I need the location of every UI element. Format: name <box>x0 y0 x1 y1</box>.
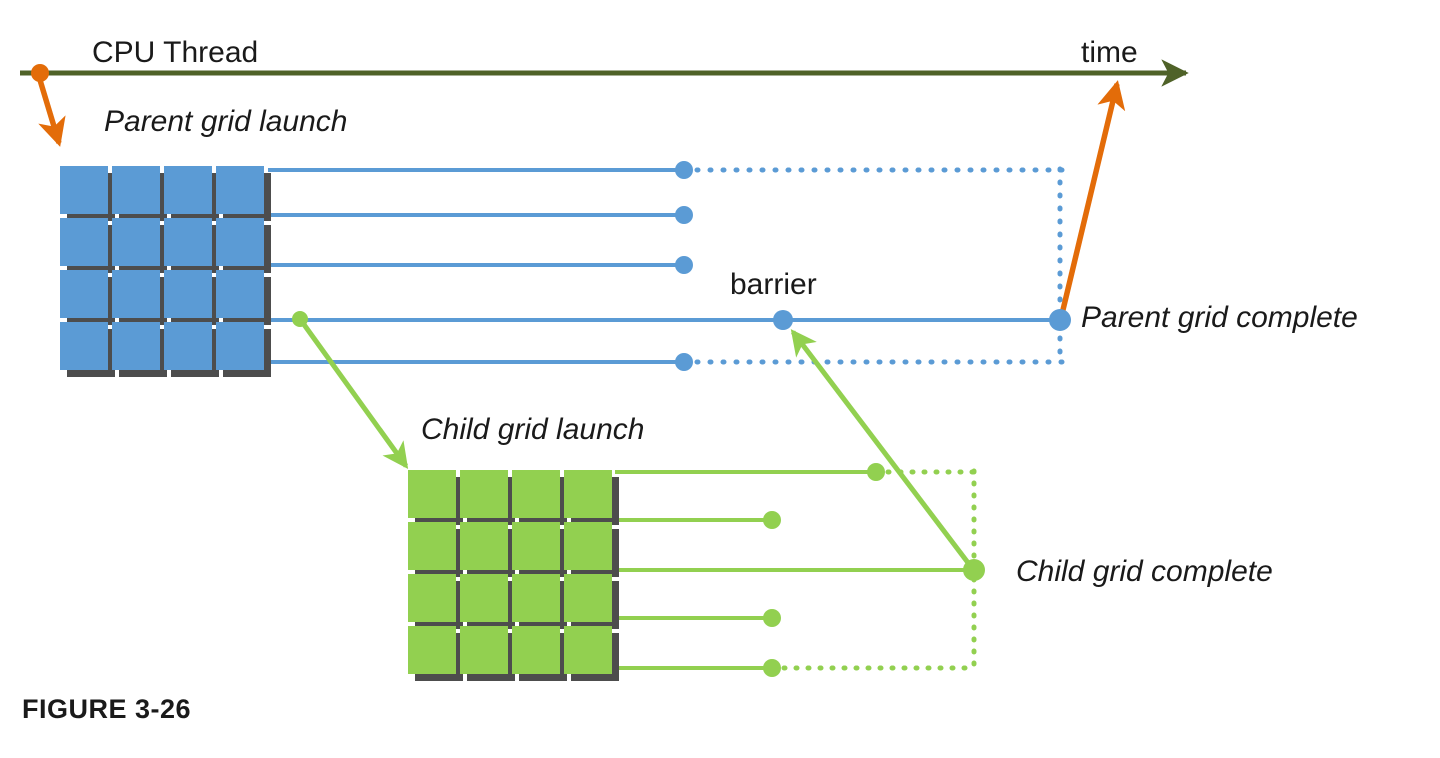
child-grid-launch-label: Child grid launch <box>421 413 644 447</box>
parent-barrier-dot <box>773 310 793 330</box>
child-grid-blocks <box>408 470 619 681</box>
child-block <box>460 522 508 570</box>
parent-grid-launch-label: Parent grid launch <box>104 105 348 139</box>
parent-block <box>216 218 264 266</box>
child-thread-lines-group <box>615 463 985 677</box>
child-block <box>512 574 560 622</box>
parent-block <box>60 270 108 318</box>
child-grid-launch-arrow <box>300 319 406 466</box>
parent-thread-end-dot-5 <box>675 353 693 371</box>
child-thread-end-dot-5 <box>763 659 781 677</box>
parent-thread-end-dot-1 <box>675 161 693 179</box>
child-block <box>408 626 456 674</box>
child-grid-launch-origin-dot <box>292 311 308 327</box>
parent-block <box>164 218 212 266</box>
child-block <box>564 574 612 622</box>
parent-block <box>60 218 108 266</box>
child-grid-complete-arrow <box>793 332 972 568</box>
child-block <box>564 626 612 674</box>
parent-block <box>112 218 160 266</box>
figure-caption: FIGURE 3-26 <box>22 694 191 725</box>
child-block <box>512 470 560 518</box>
parent-block <box>112 270 160 318</box>
time-axis-label: time <box>1081 36 1138 70</box>
child-block <box>460 574 508 622</box>
child-block <box>460 626 508 674</box>
child-block <box>512 522 560 570</box>
child-thread-end-dot-4 <box>763 609 781 627</box>
child-thread-end-dot-2 <box>763 511 781 529</box>
child-block <box>408 470 456 518</box>
parent-block <box>216 270 264 318</box>
child-block <box>564 522 612 570</box>
child-thread-end-dot-1 <box>867 463 885 481</box>
cpu-thread-label: CPU Thread <box>92 36 258 70</box>
cpu-timeline-start-dot <box>31 64 49 82</box>
parent-grid-blocks <box>60 166 271 377</box>
parent-grid-complete-label: Parent grid complete <box>1081 301 1358 335</box>
parent-block <box>164 270 212 318</box>
parent-block <box>164 166 212 214</box>
parent-block <box>216 322 264 370</box>
child-block <box>564 470 612 518</box>
barrier-label: barrier <box>730 268 817 302</box>
parent-thread-end-dot-2 <box>675 206 693 224</box>
parent-grid-complete-arrow <box>1062 84 1117 314</box>
parent-block <box>60 322 108 370</box>
parent-grid-launch-arrow <box>40 80 59 143</box>
parent-block <box>60 166 108 214</box>
parent-block <box>112 322 160 370</box>
child-block <box>408 574 456 622</box>
parent-thread-lines-group <box>268 161 1071 371</box>
child-block <box>460 470 508 518</box>
parent-block <box>112 166 160 214</box>
figure-container: CPU Thread time Parent grid launch Child… <box>0 0 1440 758</box>
child-block <box>512 626 560 674</box>
parent-block <box>216 166 264 214</box>
child-grid-complete-label: Child grid complete <box>1016 555 1273 589</box>
parent-block <box>164 322 212 370</box>
parent-thread-end-dot-3 <box>675 256 693 274</box>
child-block <box>408 522 456 570</box>
